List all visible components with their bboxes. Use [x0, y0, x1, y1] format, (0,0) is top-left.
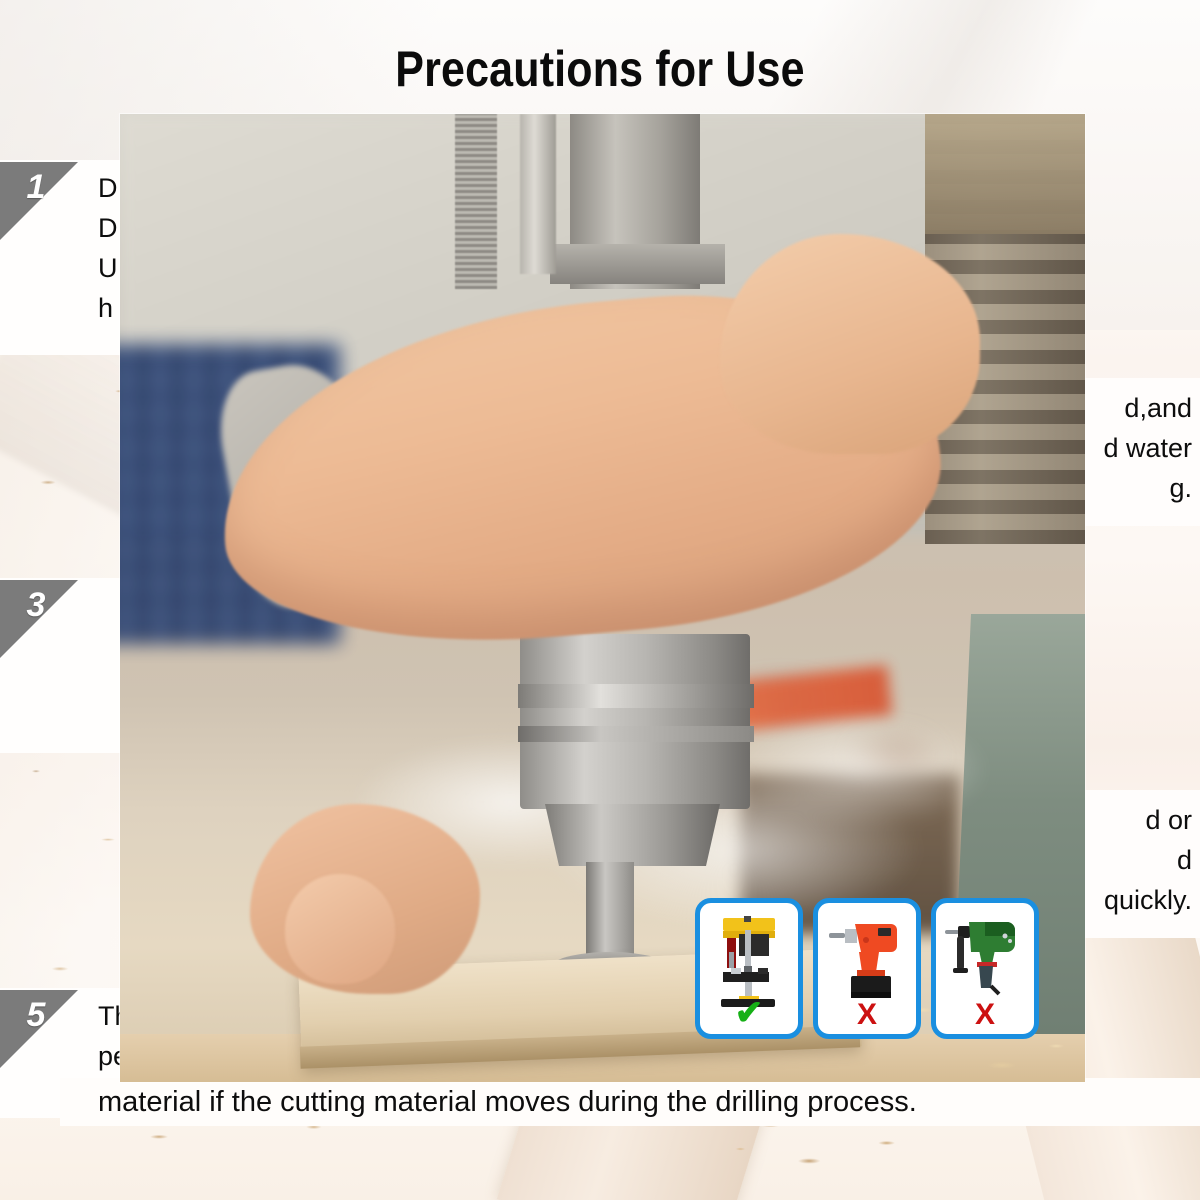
photo-column-dust-cap	[925, 114, 1085, 234]
photo-machine-head-cap	[550, 244, 725, 284]
tool-card-hammer-drill[interactable]: X	[931, 898, 1039, 1039]
step-number-3: 3	[14, 586, 58, 625]
tool-card-cordless-drill[interactable]: X	[813, 898, 921, 1039]
photo-drill-chuck	[520, 634, 750, 809]
step-number-1: 1	[14, 168, 58, 207]
tool-card-drill-press[interactable]: ✔	[695, 898, 803, 1039]
precaution-text-2: d,and d water g.	[1103, 388, 1192, 508]
photo-bit-shank	[586, 862, 634, 962]
forbidden-cross-icon: X	[936, 1000, 1034, 1030]
page-title: Precautions for Use	[84, 40, 1116, 98]
precaution-text-4: d or d quickly.	[1104, 800, 1192, 920]
screenshot-root: Precautions for Use D D U h d,and d wate…	[0, 0, 1200, 1200]
photo-smooth-shaft	[520, 114, 556, 274]
photo-chuck-nose	[545, 804, 720, 866]
photo-thumb	[285, 874, 395, 984]
photo-threaded-shaft	[455, 114, 497, 289]
hammer-drill-icon	[939, 910, 1031, 1008]
forbidden-cross-icon: X	[818, 1000, 916, 1030]
step-number-5: 5	[14, 996, 58, 1035]
bottom-caption: material if the cutting material moves d…	[98, 1082, 917, 1122]
precaution-text-1: D D U h	[98, 168, 118, 328]
tool-comparison-cards: ✔ X	[695, 898, 1039, 1039]
photo-hand	[720, 234, 980, 454]
cordless-drill-icon	[821, 910, 913, 1008]
photo-chuck-band-upper	[518, 684, 754, 708]
photo-chuck-band-lower	[518, 726, 754, 742]
allowed-check-icon: ✔	[700, 996, 798, 1030]
